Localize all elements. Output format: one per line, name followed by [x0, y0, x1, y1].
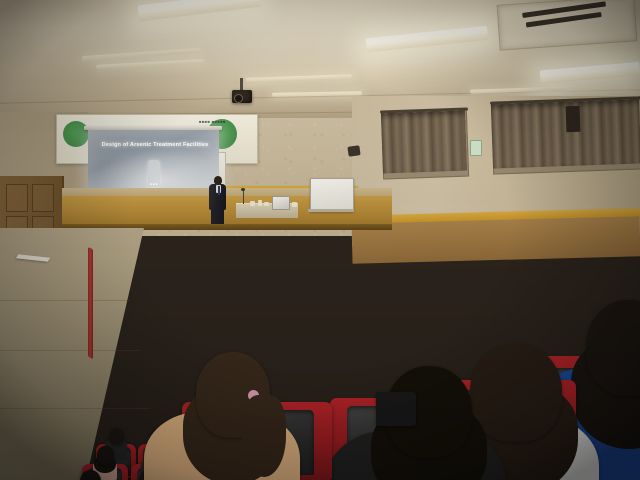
handbag[interactable] — [376, 392, 416, 426]
curtain-gap — [566, 106, 581, 132]
microphone-stand — [243, 190, 244, 204]
door-panel — [32, 184, 54, 212]
presenter-tie — [218, 186, 220, 195]
window-curtain[interactable] — [381, 111, 467, 174]
desk-item — [250, 201, 255, 206]
desk-item — [258, 200, 262, 206]
wall-speaker — [347, 145, 360, 157]
audience-head — [109, 428, 124, 445]
projector-lens-icon — [234, 94, 243, 103]
slide-subtitle-1: ■ ■ ■ — [98, 182, 210, 186]
wall-switch-plate[interactable] — [470, 140, 482, 156]
banner-graphic-left — [63, 121, 89, 147]
banner-text-left: ■■■■ ■■■■■ — [199, 119, 226, 124]
desk-item — [264, 202, 269, 206]
audience-head — [97, 446, 114, 465]
door-panel — [6, 184, 28, 212]
projector-mount-arm — [240, 78, 243, 90]
foreground-person-plaid-head — [470, 344, 562, 442]
lecture-hall-photo: ■■■■ ■■■■■ ■■■■■■ Design of Arsenic Trea… — [0, 0, 640, 480]
laptop[interactable] — [272, 196, 290, 210]
desk-item — [292, 202, 297, 207]
whiteboard — [310, 178, 354, 212]
presenter-head — [214, 176, 222, 185]
microphone-icon — [241, 188, 245, 191]
slide-title: Design of Arsenic Treatment Facilities — [94, 142, 216, 148]
ponytail — [242, 395, 286, 477]
